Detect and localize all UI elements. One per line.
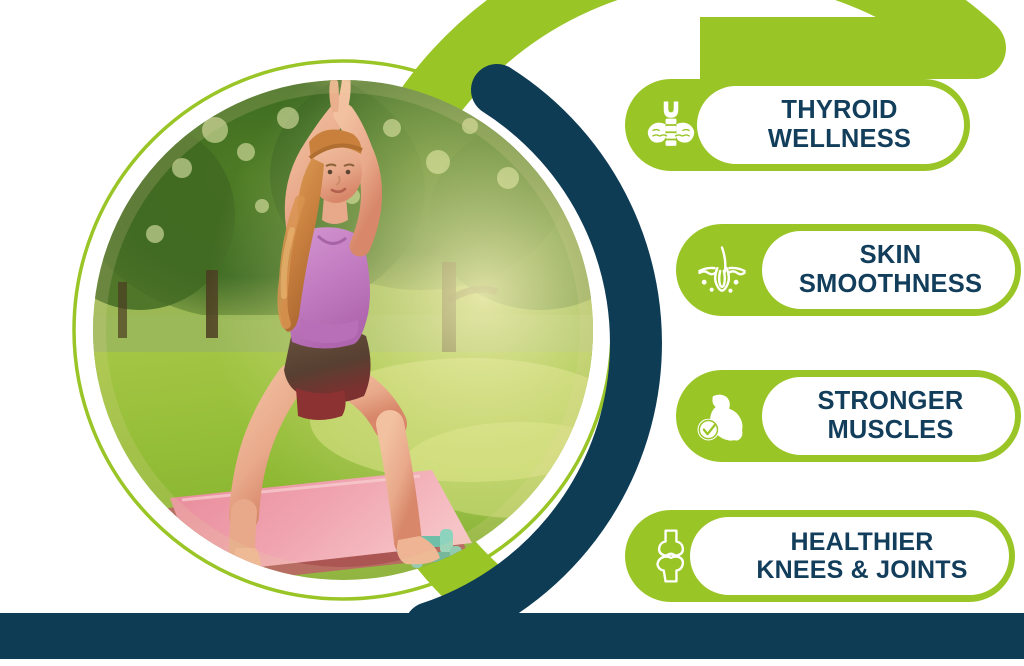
flexed-bicep-check-icon bbox=[676, 370, 768, 462]
knee-joint-icon bbox=[625, 510, 717, 602]
thyroid-gland-icon bbox=[625, 79, 717, 171]
badge-label: STRONGER MUSCLES bbox=[768, 387, 1021, 445]
badge-label: SKIN SMOOTHNESS bbox=[768, 241, 1021, 299]
badge-label: HEALTHIER KNEES & JOINTS bbox=[717, 528, 1015, 585]
infographic-poster: THYROID WELLNESS bbox=[0, 0, 1024, 666]
benefit-badge-thyroid-wellness[interactable]: THYROID WELLNESS bbox=[625, 79, 970, 171]
benefit-badge-skin-smoothness[interactable]: SKIN SMOOTHNESS bbox=[676, 224, 1021, 316]
benefit-badge-healthier-knees-joints[interactable]: HEALTHIER KNEES & JOINTS bbox=[625, 510, 1015, 602]
photo-content bbox=[45, 60, 650, 592]
hair-follicle-skin-icon bbox=[676, 224, 768, 316]
badge-label: THYROID WELLNESS bbox=[717, 96, 970, 154]
benefit-badge-stronger-muscles[interactable]: STRONGER MUSCLES bbox=[676, 370, 1021, 462]
